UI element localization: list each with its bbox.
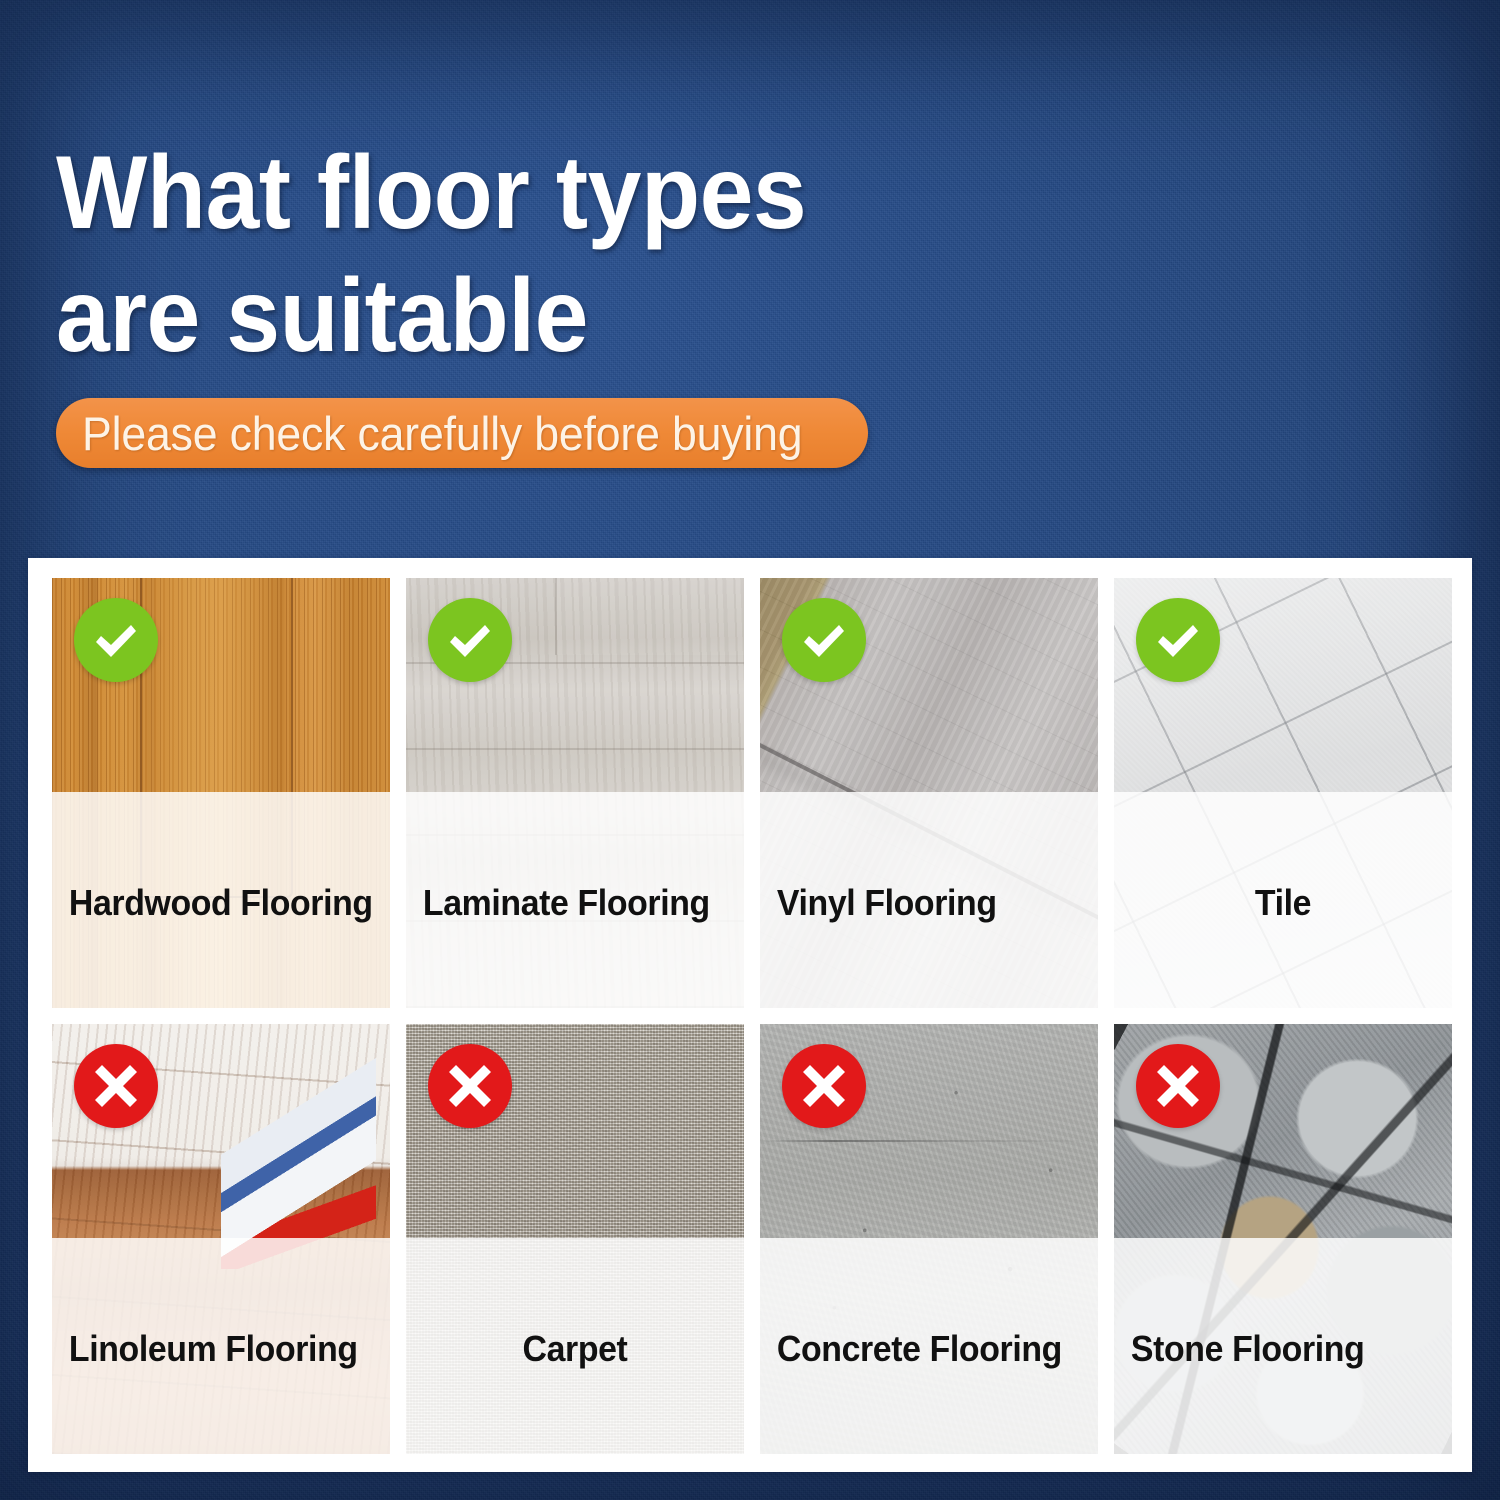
floor-type-label-band: Laminate Flooring xyxy=(406,792,744,1008)
floor-type-card[interactable]: Hardwood Flooring xyxy=(52,578,390,1008)
check-icon xyxy=(74,598,158,682)
floor-type-label: Laminate Flooring xyxy=(406,885,724,921)
floor-type-card[interactable]: Stone Flooring xyxy=(1114,1024,1452,1454)
notice-banner-label: Please check carefully before buying xyxy=(82,406,802,461)
page-title: What floor types are suitable xyxy=(56,132,1153,380)
floor-type-label: Concrete Flooring xyxy=(760,1331,1078,1367)
floor-type-label: Carpet xyxy=(416,1331,734,1367)
floor-type-label-band: Carpet xyxy=(406,1238,744,1454)
floor-type-panel: Hardwood FlooringLaminate FlooringVinyl … xyxy=(28,558,1472,1472)
floor-type-card[interactable]: Carpet xyxy=(406,1024,744,1454)
floor-type-label-band: Tile xyxy=(1114,792,1452,1008)
floor-type-label: Tile xyxy=(1124,885,1442,921)
floor-type-grid: Hardwood FlooringLaminate FlooringVinyl … xyxy=(52,578,1452,1454)
infographic-poster: What floor types are suitable Please che… xyxy=(0,0,1500,1500)
floor-type-label-band: Stone Flooring xyxy=(1114,1238,1452,1454)
notice-banner: Please check carefully before buying xyxy=(56,398,868,468)
check-icon xyxy=(782,598,866,682)
cross-icon xyxy=(428,1044,512,1128)
floor-type-label: Stone Flooring xyxy=(1114,1331,1432,1367)
floor-type-card[interactable]: Laminate Flooring xyxy=(406,578,744,1008)
floor-type-card[interactable]: Tile xyxy=(1114,578,1452,1008)
floor-type-label: Hardwood Flooring xyxy=(52,885,373,921)
check-icon xyxy=(1136,598,1220,682)
floor-type-label-band: Linoleum Flooring xyxy=(52,1238,390,1454)
cross-icon xyxy=(1136,1044,1220,1128)
floor-type-card[interactable]: Vinyl Flooring xyxy=(760,578,1098,1008)
floor-type-label-band: Hardwood Flooring xyxy=(52,792,390,1008)
floor-type-card[interactable]: Concrete Flooring xyxy=(760,1024,1098,1454)
floor-type-label: Linoleum Flooring xyxy=(52,1331,370,1367)
floor-type-label-band: Vinyl Flooring xyxy=(760,792,1098,1008)
floor-type-label: Vinyl Flooring xyxy=(760,885,1078,921)
floor-type-card[interactable]: Linoleum Flooring xyxy=(52,1024,390,1454)
cross-icon xyxy=(74,1044,158,1128)
floor-type-label-band: Concrete Flooring xyxy=(760,1238,1098,1454)
cross-icon xyxy=(782,1044,866,1128)
check-icon xyxy=(428,598,512,682)
